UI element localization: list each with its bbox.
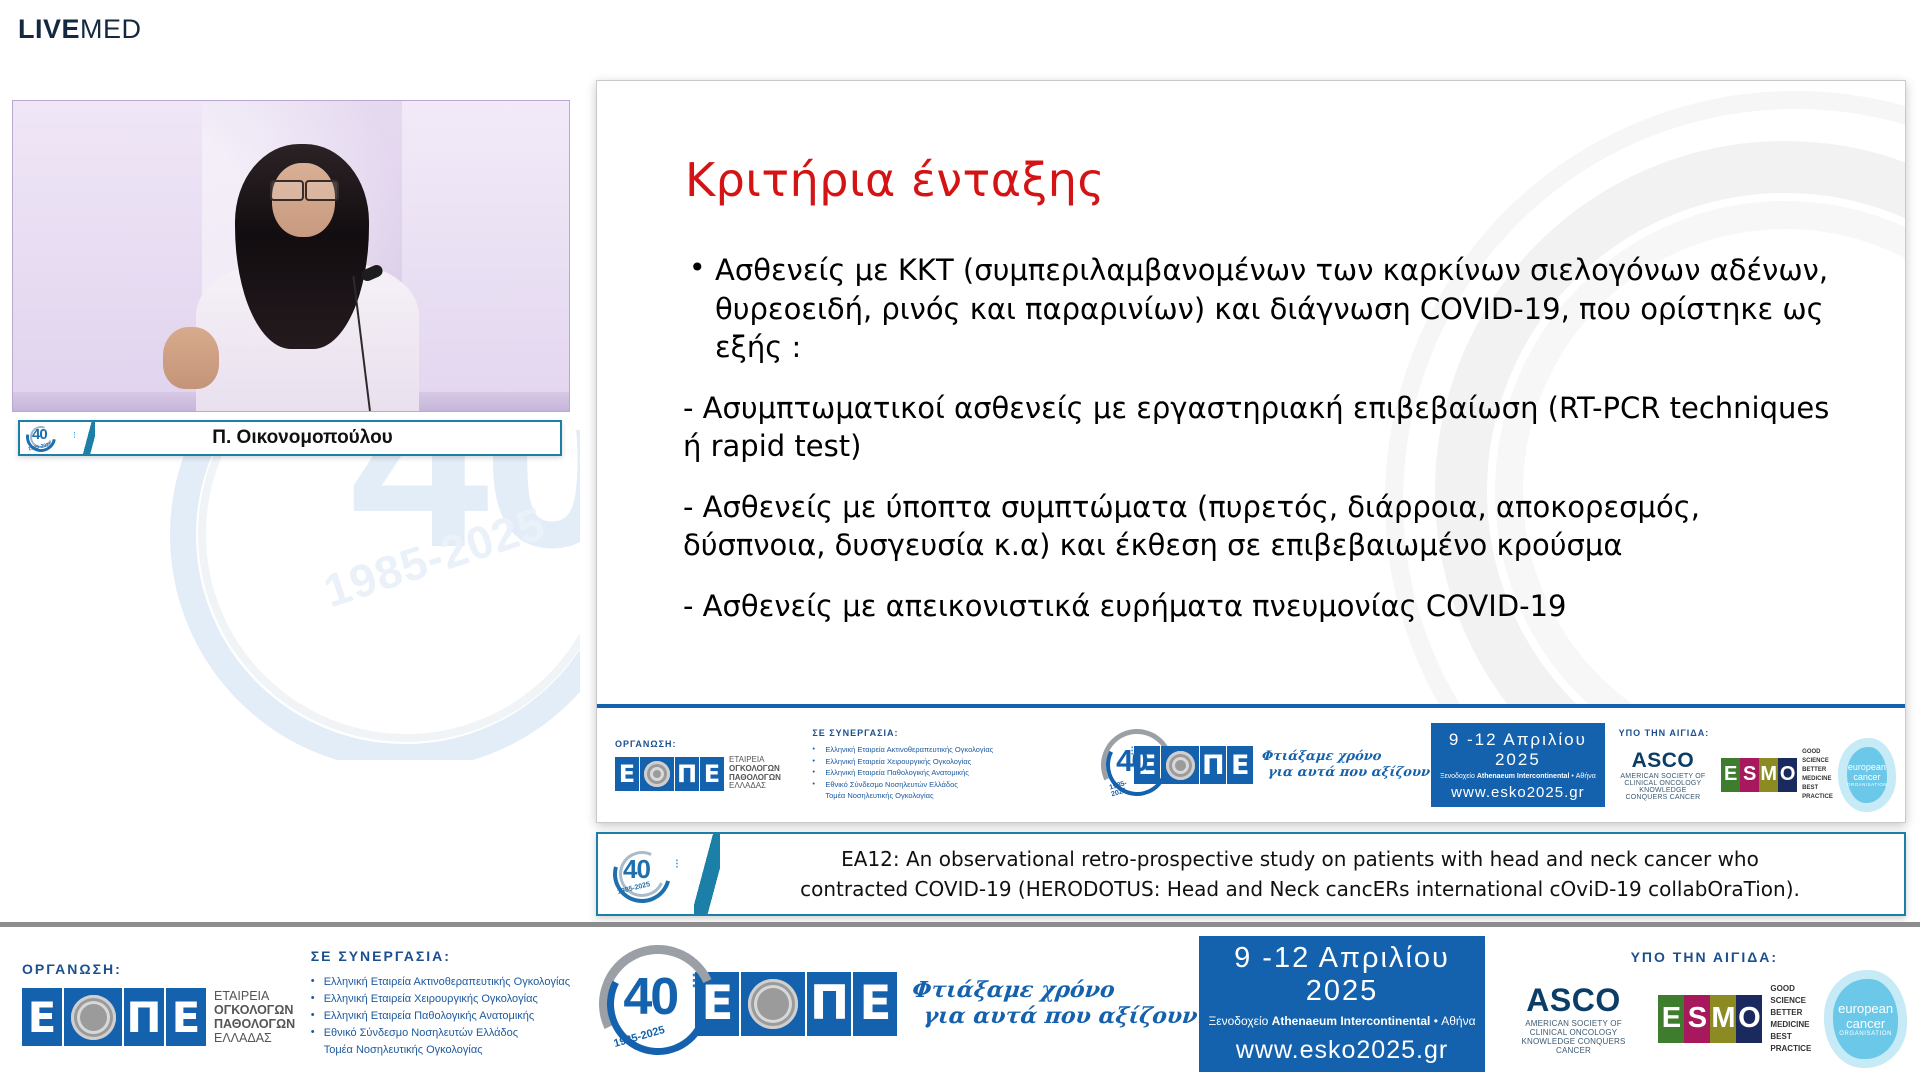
spiral-disc xyxy=(644,761,670,787)
anniversary-40-icon: 40 1985-2025 ⁝ xyxy=(609,843,683,905)
tagline-line-1: Φτιάξαμε χρόνο xyxy=(1261,749,1432,765)
anniversary-watermark: 40 1985-2025 xyxy=(20,430,580,760)
speaker-glasses xyxy=(270,180,339,197)
eope-letter-p: Π xyxy=(124,988,164,1046)
esmo-tagline-1: GOOD SCIENCE xyxy=(1770,983,1811,1007)
footer-eope-logo: Ε Π Ε ΕΤΑΙΡΕΙΑ ΟΓΚΟΛΟΓΩΝ ΠΑΘΟΛΟΓΩΝ ΕΛΛΑΔ… xyxy=(22,988,311,1046)
event-website: www.esko2025.gr xyxy=(1205,1036,1478,1065)
logo40-dots-icon: ⁝ xyxy=(690,971,697,991)
eope-spiral-icon xyxy=(741,972,805,1036)
speaker-name-bar: 40 1985-2025 ⁝ Π. Οικονομοπούλου xyxy=(18,420,562,456)
eope-spiral-icon xyxy=(64,988,122,1046)
tagline-line-1: Φτιάξαμε χρόνο xyxy=(911,977,1202,1003)
footer-40-circle: 40 1985-2025 ⁝ xyxy=(599,945,699,1063)
logo40-dots-icon: ⁝ xyxy=(1130,745,1134,757)
asco-logo: ASCO AMERICAN SOCIETY OF CLINICAL ONCOLO… xyxy=(1619,749,1708,801)
asco-sub-1: AMERICAN SOCIETY OF CLINICAL ONCOLOGY xyxy=(1511,1019,1637,1037)
esmo-tagline: GOOD SCIENCE BETTER MEDICINE BEST PRACTI… xyxy=(1770,983,1811,1055)
footer-anniversary-logo: 40 1985-2025 ⁝ Ε Π Ε Φτιάξαμε χρόνο για … xyxy=(599,945,1199,1063)
eope-letter-e1: Ε xyxy=(22,988,62,1046)
footer-collab-list: Ελληνική Εταιρεία Ακτινοθεραπευτικής Ογκ… xyxy=(311,974,600,1059)
venue-prefix: Ξενοδοχείο xyxy=(1440,773,1475,780)
event-venue-line: Ξενοδοχείο Athenaeum Intercontinental • … xyxy=(1435,773,1601,780)
list-item: Ελληνική Εταιρεία Παθολογικής Ανατομικής xyxy=(311,1008,600,1025)
esmo-tagline-2: BETTER MEDICINE xyxy=(1802,766,1833,784)
footer-organizer-label: ΟΡΓΑΝΩΣΗ: xyxy=(22,961,311,977)
list-item: Ελληνική Εταιρεία Χειρουργικής Ογκολογία… xyxy=(311,991,600,1008)
slide-eope-mark: Ε Π Ε xyxy=(615,757,724,791)
esmo-letter-m: M xyxy=(1759,758,1778,792)
european-cancer-organisation-logo: european cancer ORGANISATION xyxy=(1833,979,1898,1059)
footer-tagline: Φτιάξαμε χρόνο για αυτά που αξίζουν xyxy=(909,977,1202,1030)
eco-line-3: ORGANISATION xyxy=(1838,1031,1893,1037)
eope-sub-1: ΕΤΑΙΡΕΙΑ xyxy=(214,989,295,1003)
name-bar-badge: 40 1985-2025 ⁝ xyxy=(20,422,82,454)
esmo-letter-o: O xyxy=(1736,995,1762,1043)
list-item: Τομέα Νοσηλευτικής Ογκολογίας xyxy=(812,790,1101,802)
eco-line-3: ORGANISATION xyxy=(1847,782,1887,787)
video-background-right xyxy=(402,101,569,411)
badge-number: 40 xyxy=(32,427,47,442)
event-venue-line: Ξενοδοχείο Athenaeum Intercontinental • … xyxy=(1205,1014,1478,1028)
esmo-tagline-3: BEST PRACTICE xyxy=(1770,1031,1811,1055)
badge-dots-icon: ⁝ xyxy=(675,859,679,869)
livemed-logo: LIVEMED xyxy=(18,16,142,43)
esmo-logo: E S M O GOOD SCIENCE BETTER MEDICINE BES… xyxy=(1658,983,1811,1055)
asco-sub-2: KNOWLEDGE CONQUERS CANCER xyxy=(1511,1037,1637,1055)
esmo-marks: E S M O xyxy=(1721,758,1797,792)
esmo-letter-e: E xyxy=(1658,995,1684,1043)
spiral-disc xyxy=(748,979,798,1029)
page-sponsor-banner: ΟΡΓΑΝΩΣΗ: Ε Π Ε ΕΤΑΙΡΕΙΑ ΟΓΚΟΛΟΓΩΝ ΠΑΘΟΛ… xyxy=(0,922,1920,1080)
slide-40-circle: 40 1985-2025 ⁝ xyxy=(1101,729,1136,801)
slide-organizer-block: ΟΡΓΑΝΩΣΗ: Ε Π Ε ΕΤΑΙΡΕΙΑ ΟΓΚΟΛΟΓΩ xyxy=(615,739,812,792)
eco-line-1: european xyxy=(1847,762,1887,772)
event-dates: 9 -12 Απριλίου 2025 xyxy=(1435,730,1601,770)
eco-line-1: european xyxy=(1838,1001,1893,1016)
badge-number: 40 xyxy=(623,856,650,882)
session-title: EA12: An observational retro-prospective… xyxy=(720,844,1904,904)
spiral-disc xyxy=(71,995,116,1040)
esmo-letter-s: S xyxy=(1740,758,1759,792)
eope-letter-e2: Ε xyxy=(166,988,206,1046)
eope-sub-4: ΕΛΛΑΔΑΣ xyxy=(214,1031,295,1045)
livemed-logo-bold: LIVE xyxy=(18,14,80,44)
venue-name: Athenaeum Intercontinental xyxy=(1272,1014,1431,1028)
list-item: Εθνικό Σύνδεσμο Νοσηλευτών Ελλάδος xyxy=(311,1025,600,1042)
spiral-disc xyxy=(1166,751,1195,780)
list-item: Ελληνική Εταιρεία Παθολογικής Ανατομικής xyxy=(812,767,1101,779)
eope-letter-e2: Ε xyxy=(853,972,897,1036)
session-title-line-2: contracted COVID-19 (HERODOTUS: Head and… xyxy=(730,874,1870,904)
livemed-logo-light: MED xyxy=(80,14,142,44)
anniversary-40-icon: 40 1985-2025 ⁝ xyxy=(24,422,80,454)
slide-collab-list: Ελληνική Εταιρεία Ακτινοθεραπευτικής Ογκ… xyxy=(812,744,1101,802)
presentation-slide[interactable]: Κριτήρια ένταξης Ασθενείς με ΚΚΤ (συμπερ… xyxy=(596,80,1906,823)
watermark-years: 1985-2025 xyxy=(317,496,551,618)
name-bar-slash xyxy=(82,422,95,454)
asco-name: ASCO xyxy=(1619,749,1708,773)
logo40-number: 40 xyxy=(623,971,677,1023)
eope-letter-e1: Ε xyxy=(615,757,639,791)
footer-collab-label: ΣΕ ΣΥΝΕΡΓΑΣΙΑ: xyxy=(311,948,600,964)
slide-canvas: Κριτήρια ένταξης Ασθενείς με ΚΚΤ (συμπερ… xyxy=(597,81,1905,822)
slide-body: Ασθενείς με ΚΚΤ (συμπεριλαμβανομένων των… xyxy=(683,251,1833,648)
footer-eope-mark: Ε Π Ε xyxy=(22,988,206,1046)
eope-sub-2: ΟΓΚΟΛΟΓΩΝ xyxy=(214,1003,295,1017)
eco-text: european cancer ORGANISATION xyxy=(1838,1001,1893,1037)
speaker-video-panel[interactable] xyxy=(12,100,570,412)
list-item: Ελληνική Εταιρεία Ακτινοθεραπευτικής Ογκ… xyxy=(311,974,600,991)
screen-root: LIVEMED 40 1985-2025 40 19 xyxy=(0,0,1920,1080)
venue-sep: • xyxy=(1571,773,1573,780)
venue-sep: • xyxy=(1434,1014,1438,1028)
esmo-tagline-2: BETTER MEDICINE xyxy=(1770,1007,1811,1031)
slide-eope-subtitle: ΕΤΑΙΡΕΙΑ ΟΓΚΟΛΟΓΩΝ ΠΑΘΟΛΟΓΩΝ ΕΛΛΑΔΑΣ xyxy=(729,756,781,792)
eco-line-2: cancer xyxy=(1847,772,1887,782)
asco-logo: ASCO AMERICAN SOCIETY OF CLINICAL ONCOLO… xyxy=(1511,982,1637,1055)
slide-bullet-1: Ασθενείς με ΚΚΤ (συμπεριλαμβανομένων των… xyxy=(683,251,1833,367)
venue-city: Αθήνα xyxy=(1441,1014,1475,1028)
eco-line-2: cancer xyxy=(1838,1016,1893,1031)
footer-auspices-block: ΥΠΟ ΤΗΝ ΑΙΓΙΔΑ: ASCO AMERICAN SOCIETY OF… xyxy=(1485,949,1898,1059)
slide-tagline: Φτιάξαμε χρόνο για αυτά που αξίζουν xyxy=(1260,749,1433,780)
asco-sub-1: AMERICAN SOCIETY OF CLINICAL ONCOLOGY xyxy=(1619,773,1708,787)
slide-bullet-2: - Ασυμπτωματικοί ασθενείς με εργαστηριακ… xyxy=(683,389,1833,466)
eope-letter-e2: Ε xyxy=(1227,746,1253,784)
speaker-video-frame[interactable] xyxy=(12,100,570,412)
slide-eope-logo: Ε Π Ε ΕΤΑΙΡΕΙΑ ΟΓΚΟΛΟΓΩΝ ΠΑΘΟΛΟΓΩΝ ΕΛΛΑΔ… xyxy=(615,756,812,792)
speaker-name: Π. Οικονομοπούλου xyxy=(95,427,560,449)
caption-badge: 40 1985-2025 ⁝ xyxy=(598,834,694,914)
esmo-logo: E S M O GOOD SCIENCE BETTER MEDICINE BES… xyxy=(1721,748,1833,802)
list-item: Τομέα Νοσηλευτικής Ογκολογίας xyxy=(311,1042,600,1059)
footer-big-eope-mark: Ε Π Ε xyxy=(695,972,897,1036)
list-item: Εθνικό Σύνδεσμο Νοσηλευτών Ελλάδος xyxy=(812,779,1101,791)
list-item: Ελληνική Εταιρεία Ακτινοθεραπευτικής Ογκ… xyxy=(812,744,1101,756)
venue-city: Αθήνα xyxy=(1576,773,1596,780)
badge-dots-icon: ⁝ xyxy=(73,430,76,441)
eope-spiral-icon xyxy=(640,757,674,791)
slide-bullet-3: - Ασθενείς με ύποπτα συμπτώματα (πυρετός… xyxy=(683,488,1833,565)
esmo-tagline-1: GOOD SCIENCE xyxy=(1802,748,1833,766)
esmo-letter-s: S xyxy=(1684,995,1710,1043)
venue-name: Athenaeum Intercontinental xyxy=(1477,773,1570,780)
session-caption-bar: 40 1985-2025 ⁝ EA12: An observational re… xyxy=(596,832,1906,916)
watermark-ring-inner xyxy=(198,430,580,742)
slide-event-datebox: 9 -12 Απριλίου 2025 Ξενοδοχείο Athenaeum… xyxy=(1431,723,1605,807)
footer-eope-subtitle: ΕΤΑΙΡΕΙΑ ΟΓΚΟΛΟΓΩΝ ΠΑΘΟΛΟΓΩΝ ΕΛΛΑΔΑΣ xyxy=(214,989,295,1045)
slide-organizer-label: ΟΡΓΑΝΩΣΗ: xyxy=(615,739,812,749)
esmo-letter-e: E xyxy=(1721,758,1740,792)
esmo-letter-m: M xyxy=(1710,995,1736,1043)
event-dates: 9 -12 Απριλίου 2025 xyxy=(1205,942,1478,1008)
eope-sub-4: ΕΛΛΑΔΑΣ xyxy=(729,782,781,791)
slide-auspices-label: ΥΠΟ ΤΗΝ ΑΙΓΙΔΑ: xyxy=(1619,728,1887,738)
eope-letter-p: Π xyxy=(807,972,851,1036)
footer-auspices-label: ΥΠΟ ΤΗΝ ΑΙΓΙΔΑ: xyxy=(1511,949,1898,965)
footer-event-datebox: 9 -12 Απριλίου 2025 Ξενοδοχείο Athenaeum… xyxy=(1199,936,1484,1072)
footer-auspices-logos: ASCO AMERICAN SOCIETY OF CLINICAL ONCOLO… xyxy=(1511,979,1898,1059)
slide-title: Κριτήρια ένταξης xyxy=(685,153,1105,207)
caption-slash xyxy=(694,834,720,914)
european-cancer-organisation-logo: european cancer ORGANISATION xyxy=(1847,747,1887,803)
eco-text: european cancer ORGANISATION xyxy=(1847,762,1887,787)
asco-sub-2: KNOWLEDGE CONQUERS CANCER xyxy=(1619,787,1708,801)
watermark-ring-outer xyxy=(170,430,580,760)
slide-bullet-4: - Ασθενείς με απεικονιστικά ευρήματα πνε… xyxy=(683,587,1833,626)
eope-spiral-icon xyxy=(1161,746,1199,784)
eope-sub-3: ΠΑΘΟΛΟΓΩΝ xyxy=(214,1017,295,1031)
eope-letter-p: Π xyxy=(675,757,699,791)
event-website: www.esko2025.gr xyxy=(1435,784,1601,801)
esmo-tagline: GOOD SCIENCE BETTER MEDICINE BEST PRACTI… xyxy=(1802,748,1833,802)
esmo-marks: E S M O xyxy=(1658,995,1762,1043)
footer-collaborators-block: ΣΕ ΣΥΝΕΡΓΑΣΙΑ: Ελληνική Εταιρεία Ακτινοθ… xyxy=(311,948,600,1059)
list-item: Ελληνική Εταιρεία Χειρουργικής Ογκολογία… xyxy=(812,756,1101,768)
slide-auspices-logos: ASCO AMERICAN SOCIETY OF CLINICAL ONCOLO… xyxy=(1619,747,1887,803)
slide-collaborators-block: ΣΕ ΣΥΝΕΡΓΑΣΙΑ: Ελληνική Εταιρεία Ακτινοθ… xyxy=(812,728,1101,802)
footer-organizer-block: ΟΡΓΑΝΩΣΗ: Ε Π Ε ΕΤΑΙΡΕΙΑ ΟΓΚΟΛΟΓΩΝ ΠΑΘΟΛ… xyxy=(22,961,311,1046)
slide-auspices-block: ΥΠΟ ΤΗΝ ΑΙΓΙΔΑ: ASCO AMERICAN SOCIETY OF… xyxy=(1605,728,1887,803)
esmo-tagline-3: BEST PRACTICE xyxy=(1802,784,1833,802)
slide-collab-label: ΣΕ ΣΥΝΕΡΓΑΣΙΑ: xyxy=(812,728,1101,738)
eope-letter-p: Π xyxy=(1200,746,1226,784)
esmo-letter-o: O xyxy=(1778,758,1797,792)
slide-anniversary-logo: 40 1985-2025 ⁝ Ε Π Ε Φτιάξαμε χρόνο xyxy=(1101,729,1431,801)
eope-letter-e2: Ε xyxy=(700,757,724,791)
tagline-line-2: για αυτά που αξίζουν xyxy=(923,1004,1200,1030)
slide-sponsor-footer: ΟΡΓΑΝΩΣΗ: Ε Π Ε ΕΤΑΙΡΕΙΑ ΟΓΚΟΛΟΓΩ xyxy=(597,704,1905,822)
speaker-hand xyxy=(163,327,219,389)
venue-prefix: Ξενοδοχείο xyxy=(1208,1014,1268,1028)
session-title-line-1: EA12: An observational retro-prospective… xyxy=(730,844,1870,874)
tagline-line-2: για αυτά που αξίζουν xyxy=(1268,765,1431,781)
asco-name: ASCO xyxy=(1511,982,1637,1019)
